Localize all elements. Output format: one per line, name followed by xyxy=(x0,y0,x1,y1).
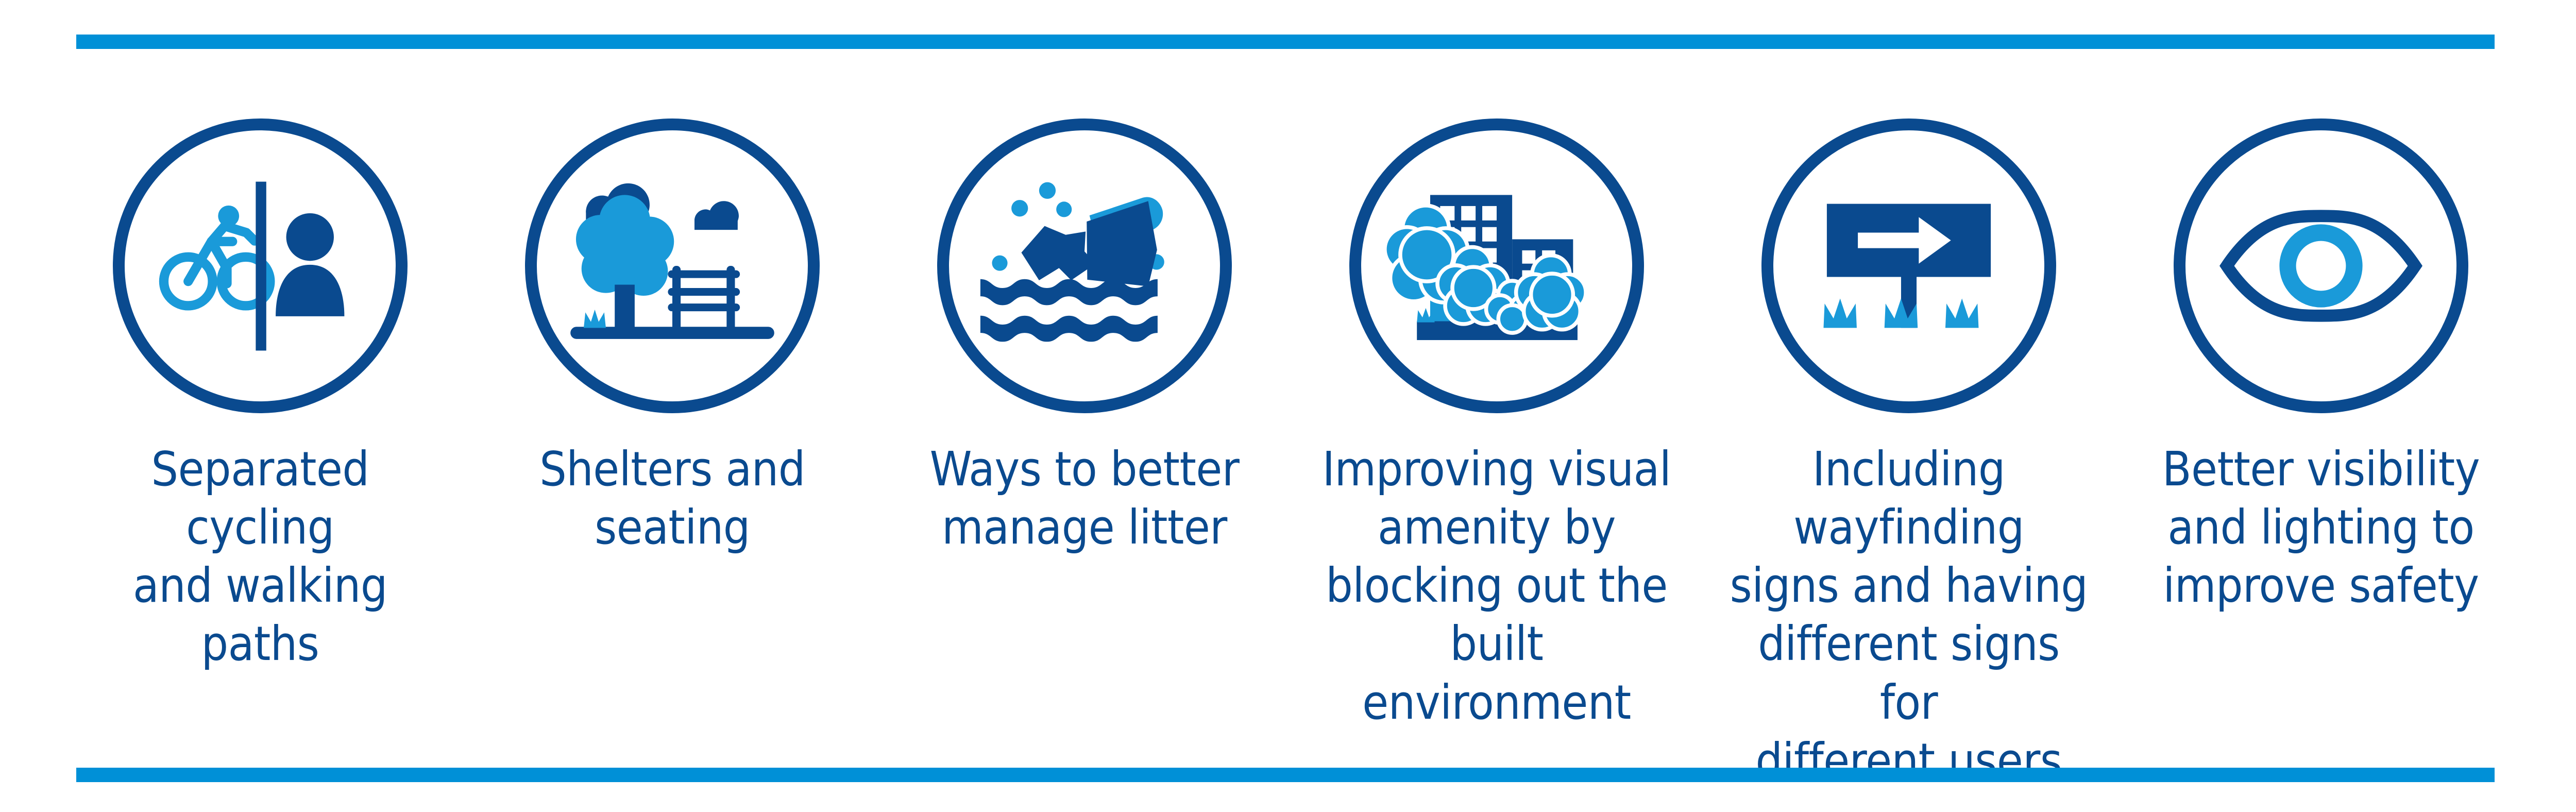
feature-icon-badge xyxy=(937,119,1232,413)
feature-item-shelters-seating: Shelters and seating xyxy=(466,119,878,556)
feature-icon-badge xyxy=(525,119,820,413)
feature-icon-badge xyxy=(2174,119,2468,413)
bottom-divider-rule xyxy=(76,768,2495,782)
buildings-with-trees-icon xyxy=(1386,155,1607,377)
litter-in-water-icon xyxy=(974,155,1195,377)
feature-item-cycling-walking: Separated cycling and walking paths xyxy=(54,119,466,673)
feature-caption: Ways to better manage litter xyxy=(904,440,1265,556)
feature-item-visual-amenity: Improving visual amenity by blocking out… xyxy=(1291,119,1703,732)
cycling-and-walking-path-icon xyxy=(149,155,371,377)
feature-item-litter: Ways to better manage litter xyxy=(878,119,1291,556)
feature-icon-badge xyxy=(1349,119,1644,413)
feature-caption: Better visibility and lighting to improv… xyxy=(2141,440,2501,615)
feature-grid: Separated cycling and walking paths xyxy=(54,119,2527,790)
tree-and-bench-icon xyxy=(562,155,783,377)
top-divider-rule xyxy=(76,35,2495,49)
feature-caption: Shelters and seating xyxy=(492,440,853,556)
feature-caption: Including wayfinding signs and having di… xyxy=(1728,440,2089,790)
feature-caption: Separated cycling and walking paths xyxy=(80,440,440,673)
feature-item-wayfinding: Including wayfinding signs and having di… xyxy=(1703,119,2115,790)
feature-caption: Improving visual amenity by blocking out… xyxy=(1316,440,1677,732)
feature-item-visibility: Better visibility and lighting to improv… xyxy=(2115,119,2527,615)
feature-icon-badge xyxy=(113,119,408,413)
eye-visibility-icon xyxy=(2210,155,2432,377)
infographic-panel: Separated cycling and walking paths xyxy=(0,0,2576,812)
wayfinding-sign-icon xyxy=(1798,155,2020,377)
feature-icon-badge xyxy=(1761,119,2056,413)
